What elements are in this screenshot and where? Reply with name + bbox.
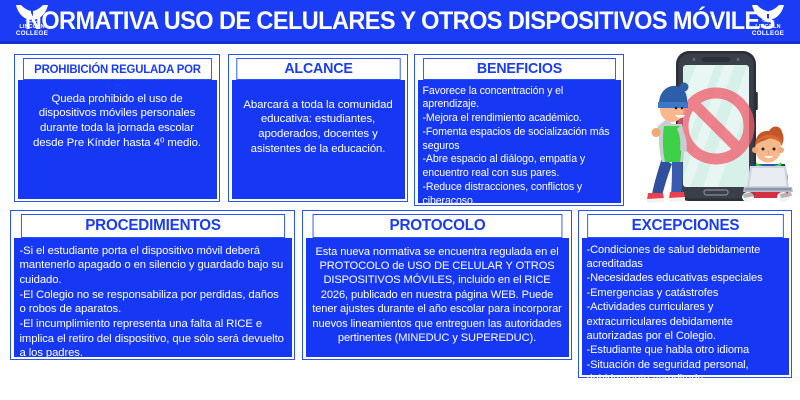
boy-sitting-with-laptop — [742, 127, 793, 202]
card-excepciones-title: EXCEPCIONES — [587, 214, 784, 238]
logo-right: LINCOLN COLLEGE — [742, 4, 794, 40]
list-item: -El Colegio no se responsabiliza por per… — [20, 288, 286, 317]
smartphone-icon — [640, 50, 760, 216]
card-prohibicion-title: PROHIBICIÓN REGULADA POR LEY — [22, 58, 211, 80]
page-title: NORMATIVA USO DE CELULARES Y OTROS DISPO… — [25, 7, 775, 38]
card-excepciones: EXCEPCIONES -Condiciones de salud debida… — [578, 210, 792, 378]
page-header: LINCOLN COLLEGE NORMATIVA USO DE CELULAR… — [0, 0, 800, 44]
list-item: -El incumplimiento representa una falta … — [20, 317, 286, 361]
boy-with-beanie-leaning — [647, 83, 689, 204]
list-item: -Necesidades educativas especiales — [587, 271, 784, 285]
no-symbol-icon — [683, 93, 749, 159]
card-protocolo: PROTOCOLO Esta nueva normativa se encuen… — [302, 210, 572, 360]
card-alcance: ALCANCE Abarcará a toda la comunidad edu… — [228, 54, 408, 202]
logo-right-text: LINCOLN COLLEGE — [752, 25, 784, 37]
card-procedimientos-body: -Si el estudiante porta el dispositivo m… — [14, 238, 292, 357]
list-item: -Si el estudiante porta el dispositivo m… — [20, 244, 286, 288]
list-item: -Abre espacio al diálogo, empatía y encu… — [423, 153, 617, 181]
list-item: Favorece la concentración y el aprendiza… — [423, 85, 617, 113]
card-alcance-body: Abarcará a toda la comunidad educativa: … — [232, 80, 405, 199]
card-beneficios-body: Favorece la concentración y el aprendiza… — [418, 80, 621, 203]
eagle-wings-icon — [751, 4, 785, 24]
list-item: -Reduce distracciones, conflictos y cibe… — [423, 181, 617, 209]
list-item: -Emergencias y catástrofes — [587, 286, 784, 300]
card-procedimientos-title: PROCEDIMIENTOS — [20, 214, 284, 238]
list-item: -Situación de seguridad personal, debida… — [587, 358, 784, 387]
card-beneficios: BENEFICIOS Favorece la concentración y e… — [414, 54, 624, 206]
card-beneficios-title: BENEFICIOS — [423, 58, 616, 80]
list-item: -Fomenta espacios de socialización más s… — [423, 126, 617, 154]
card-protocolo-title: PROTOCOLO — [312, 214, 562, 238]
no-phone-illustration — [636, 46, 800, 216]
card-protocolo-body: Esta nueva normativa se encuentra regula… — [306, 238, 569, 357]
list-item: -Estudiante que habla otro idioma — [587, 343, 784, 357]
logo-right-line2: COLLEGE — [752, 31, 784, 38]
card-prohibicion: PROHIBICIÓN REGULADA POR LEY Queda prohi… — [14, 54, 220, 202]
card-excepciones-body: -Condiciones de salud debidamente acredi… — [582, 238, 789, 375]
list-item: -Condiciones de salud debidamente acredi… — [587, 243, 784, 272]
card-alcance-title: ALCANCE — [236, 58, 400, 80]
list-item: -Actividades curriculares y extracurricu… — [587, 300, 784, 343]
card-procedimientos: PROCEDIMIENTOS -Si el estudiante porta e… — [10, 210, 295, 360]
list-item: -Mejora el rendimiento académico. — [423, 112, 617, 126]
laptop-icon — [743, 166, 793, 192]
illustration-svg — [636, 46, 800, 216]
